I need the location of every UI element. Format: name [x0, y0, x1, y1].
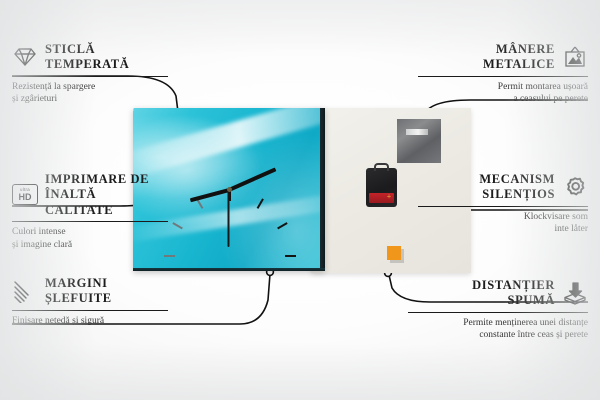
feature-title: MARGINI ȘLEFUITE [45, 276, 112, 307]
tick-mark [164, 255, 230, 257]
metal-hanger-plate [397, 119, 441, 163]
feature-rule [408, 312, 588, 314]
feature-tempered-glass: STICLĂ TEMPERATĂ Rezistență la spargere … [12, 42, 168, 106]
arrow-onto-pad-icon [562, 281, 588, 305]
tick-mark [230, 255, 296, 257]
feature-subtitle: Permit montarea ușoară a ceasului pe per… [418, 81, 588, 106]
feature-polished-edges: MARGINI ȘLEFUITE Finisare netedă și sigu… [12, 276, 168, 327]
mechanism-hanger [374, 163, 389, 171]
feature-subtitle: Finisare netedă și sigură [12, 315, 168, 327]
battery: + [369, 193, 394, 203]
feature-metal-handles: MÂNERE METALICE Permit montarea ușoară a… [418, 42, 588, 106]
feature-foam-spacer: DISTANȚIER SPUMĂ Permite menținerea unei… [408, 278, 588, 342]
feature-title: STICLĂ TEMPERATĂ [45, 42, 129, 73]
foam-spacer-pad [387, 246, 401, 260]
diamond-icon [12, 45, 38, 69]
battery-plus-icon: + [386, 194, 392, 200]
infographic-canvas: + [0, 0, 600, 400]
feature-rule [12, 76, 168, 78]
feature-subtitle: Rezistență la spargere și zgârieturi [12, 81, 168, 106]
feature-rule [12, 221, 168, 223]
feature-header: MÂNERE METALICE [418, 42, 588, 73]
ultra-hd-icon: ultra HD [12, 184, 38, 205]
hanging-picture-icon [562, 45, 588, 69]
glass-edge-bottom [133, 268, 325, 271]
feature-header: MECANISM SILENȚIOS [418, 172, 588, 203]
feature-title: MECANISM SILENȚIOS [479, 172, 555, 203]
feature-high-quality-print: ultra HD IMPRIMARE DE ÎNALTĂ CALITATE Cu… [12, 172, 168, 251]
feature-header: STICLĂ TEMPERATĂ [12, 42, 168, 73]
feature-title: DISTANȚIER SPUMĂ [472, 278, 555, 309]
feature-subtitle: Permite menținerea unei distanțe constan… [408, 317, 588, 342]
feature-subtitle: Culori intense și imagine clară [12, 226, 168, 251]
feature-title: IMPRIMARE DE ÎNALTĂ CALITATE [45, 172, 168, 218]
hanger-slot [406, 129, 428, 135]
feature-rule [418, 206, 588, 208]
hatch-lines-icon [12, 279, 38, 303]
gear-icon [562, 175, 588, 199]
second-hand [228, 190, 230, 247]
clock-hub [227, 187, 232, 192]
feature-header: DISTANȚIER SPUMĂ [408, 278, 588, 309]
feature-rule [418, 76, 588, 78]
feature-header: MARGINI ȘLEFUITE [12, 276, 168, 307]
feature-subtitle: Klockvisare som inte låter [418, 211, 588, 236]
feature-rule [12, 310, 168, 312]
feature-header: ultra HD IMPRIMARE DE ÎNALTĂ CALITATE [12, 172, 168, 218]
quartz-mechanism: + [366, 168, 397, 207]
feature-title: MÂNERE METALICE [483, 42, 555, 73]
feature-silent-mechanism: MECANISM SILENȚIOS Klockvisare som inte … [418, 172, 588, 236]
glass-edge-right [320, 108, 325, 271]
